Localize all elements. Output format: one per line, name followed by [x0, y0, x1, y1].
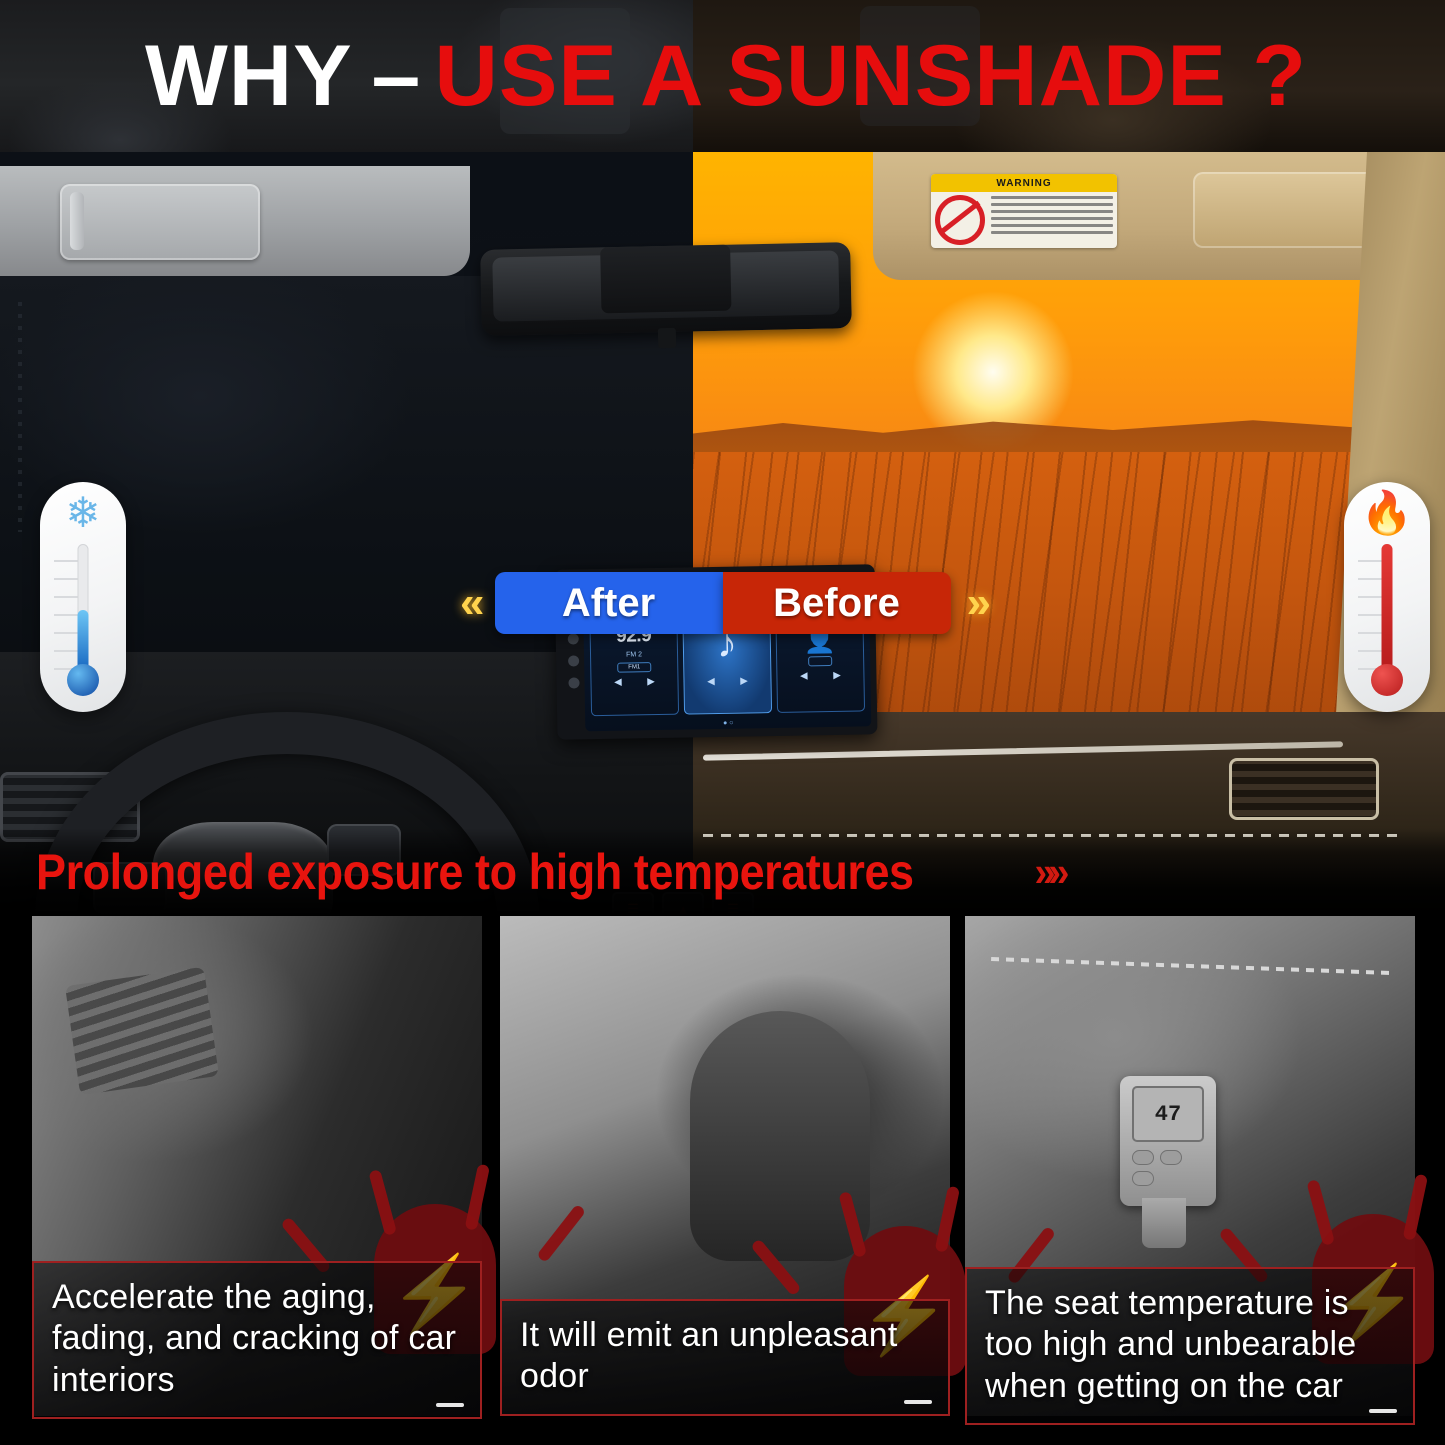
headline-chevrons-icon: »»: [1035, 848, 1063, 896]
media-next-icon[interactable]: ▶: [740, 675, 747, 686]
media-prev-icon[interactable]: ◀: [707, 676, 714, 687]
hero-split-comparison: WARNING: [0, 152, 1445, 914]
thermometer-gun-buttons: [1132, 1150, 1206, 1186]
title-use-a-sunshade: USE A SUNSHADE ?: [434, 27, 1306, 126]
caption-text-3: The seat temperature is too high and unb…: [985, 1284, 1356, 1405]
section-headline-text: Prolonged exposure to high temperatures: [36, 843, 914, 901]
head-unit-pager-dots: ● ○: [723, 720, 734, 727]
no-child-seat-icon: [931, 192, 989, 248]
vanity-mirror-cover: [60, 184, 260, 260]
phone-chip[interactable]: [808, 655, 832, 665]
section-headline-strip: Prolonged exposure to high temperatures …: [0, 828, 1445, 916]
phone-prev-icon[interactable]: ◀: [800, 670, 807, 681]
air-vent-right-icon: [1229, 758, 1379, 820]
radio-preset-chip[interactable]: FM1: [617, 662, 651, 673]
thermometer-ticks-hot: [1358, 560, 1382, 670]
header-banner: WHY – USE A SUNSHADE ?: [0, 0, 1445, 152]
caption-cursor-3: [1369, 1409, 1397, 1413]
cold-thermometer: ❄: [40, 482, 126, 712]
before-after-badges: « After Before »: [0, 567, 1445, 639]
rearview-mirror: [480, 242, 852, 336]
before-badge[interactable]: Before: [723, 572, 951, 634]
radio-prev-icon[interactable]: ◀: [614, 677, 621, 688]
sun-visor-right: WARNING: [873, 152, 1433, 280]
after-badge[interactable]: After: [495, 572, 723, 634]
phone-next-icon[interactable]: ▶: [833, 669, 840, 680]
infrared-thermometer-gun: 47: [1120, 1076, 1216, 1206]
consequences-section: 47 ⚡ ⚡ ⚡: [0, 914, 1445, 1445]
caption-cursor-1: [436, 1403, 464, 1407]
radio-band: FM 2: [626, 651, 642, 658]
rearview-mirror-housing: [600, 245, 731, 314]
thermometer-fill-hot: [1382, 544, 1393, 672]
thermometer-bulb-cold: [67, 664, 99, 696]
caption-panel-3: The seat temperature is too high and unb…: [965, 1267, 1415, 1425]
airbag-warning-label: WARNING: [931, 174, 1117, 248]
hot-thermometer: 🔥: [1344, 482, 1430, 712]
rearview-mirror-stem: [658, 328, 676, 348]
title-why: WHY: [145, 27, 353, 126]
caption-text-2: It will emit an unpleasant odor: [520, 1316, 898, 1395]
thermometer-ticks-cold: [54, 560, 78, 670]
warning-label-text-lines: [989, 192, 1117, 248]
page-title: WHY – USE A SUNSHADE ?: [0, 0, 1445, 152]
title-dash: –: [349, 27, 444, 126]
head-unit-button-back[interactable]: [568, 677, 579, 688]
caption-cursor-2: [904, 1400, 932, 1404]
snowflake-icon: ❄: [40, 492, 126, 534]
chevron-left-icon: «: [460, 578, 478, 628]
head-unit-button-menu[interactable]: [568, 655, 579, 666]
warning-label-title: WARNING: [931, 174, 1117, 192]
caption-panel-1: Accelerate the aging, fading, and cracki…: [32, 1261, 482, 1419]
thermometer-bulb-hot: [1371, 664, 1403, 696]
caption-panel-2: It will emit an unpleasant odor: [500, 1299, 950, 1416]
radio-next-icon[interactable]: ▶: [647, 676, 654, 687]
thermometer-fill-cold: [78, 610, 89, 672]
thermometer-gun-reading: 47: [1132, 1086, 1204, 1142]
product-infographic: WHY – USE A SUNSHADE ?: [0, 0, 1445, 1445]
flame-icon: 🔥: [1344, 492, 1430, 534]
caption-text-1: Accelerate the aging, fading, and cracki…: [52, 1278, 456, 1399]
thermometer-gun-grip: [1142, 1198, 1186, 1248]
sun-visor-left: [0, 166, 470, 276]
chevron-right-icon: »: [967, 578, 985, 628]
